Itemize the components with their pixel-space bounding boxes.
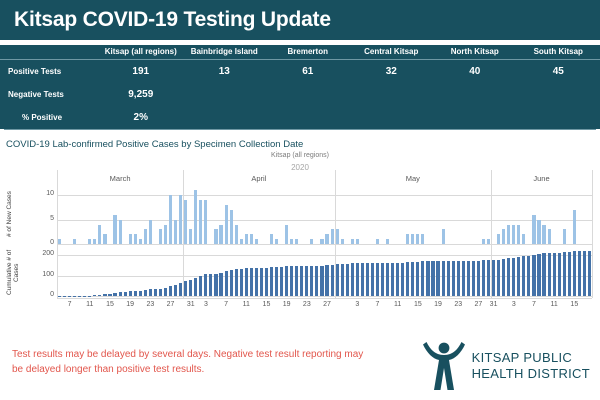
chart-bar-new-cases [290,239,293,244]
table-body: Positive Tests1911361324045Negative Test… [0,60,600,130]
chart-month-divider [57,170,58,298]
chart-bar-new-cases [341,239,344,244]
chart-bar-cumulative [108,294,111,296]
chart-bar-cumulative [497,260,500,296]
chart-bar-new-cases [230,210,233,244]
chart-x-tick-label: 11 [239,301,253,308]
chart-x-tick-label: 15 [103,301,117,308]
chart-y-tick-label: 10 [38,190,54,197]
table-cell: 2% [99,106,183,129]
chart-bar-new-cases [98,225,101,245]
table-header-row: Kitsap (all regions)Bainbridge IslandBre… [0,45,600,60]
table-cell [433,83,517,106]
cases-chart: Kitsap (all regions) 2020 MarchAprilMayJ… [0,152,600,327]
chart-bar-cumulative [406,262,409,296]
chart-bar-new-cases [194,190,197,244]
chart-x-tick-label: 27 [471,301,485,308]
chart-bar-new-cases [351,239,354,244]
chart-bar-cumulative [88,296,91,297]
chart-bar-new-cases [113,215,116,245]
chart-bar-cumulative [139,291,142,296]
chart-bar-new-cases [537,220,540,245]
chart-bar-new-cases [416,234,419,244]
chart-bar-new-cases [285,225,288,245]
chart-bar-new-cases [512,225,515,245]
chart-bar-cumulative [164,288,167,296]
chart-month-label: March [57,174,183,183]
chart-bar-cumulative [98,295,101,297]
chart-bar-cumulative [245,268,248,296]
table-col-header: Bainbridge Island [183,45,267,60]
chart-bar-new-cases [507,225,510,245]
chart-bar-cumulative [386,263,389,296]
chart-bar-new-cases [517,225,520,245]
chart-bar-new-cases [129,234,132,244]
chart-bar-cumulative [285,266,288,296]
chart-bar-cumulative [507,258,510,296]
chart-gridline [57,195,592,196]
chart-bar-cumulative [255,268,258,296]
chart-bar-new-cases [573,210,576,244]
chart-bar-new-cases [164,225,167,245]
chart-x-tick-label: 19 [280,301,294,308]
chart-x-tick-label: 7 [527,301,541,308]
chart-bar-new-cases [119,220,122,245]
chart-bar-new-cases [93,239,96,244]
chart-bar-cumulative [472,261,475,297]
chart-bar-cumulative [411,262,414,296]
chart-bar-cumulative [194,278,197,296]
chart-bar-cumulative [275,267,278,296]
chart-bar-new-cases [406,234,409,244]
chart-bar-cumulative [442,261,445,297]
person-figure-icon [422,340,466,392]
chart-x-tick-label: 27 [320,301,334,308]
chart-bar-new-cases [295,239,298,244]
chart-bar-cumulative [553,253,556,297]
chart-bar-new-cases [275,239,278,244]
chart-series-label: Kitsap (all regions) [0,152,600,159]
chart-bar-cumulative [548,253,551,297]
chart-bar-new-cases [189,229,192,244]
chart-bar-cumulative [341,264,344,296]
chart-bar-cumulative [235,269,238,296]
app-title-bar: Kitsap COVID-19 Testing Update [0,0,600,40]
chart-y-tick-label: 100 [34,271,54,278]
chart-bar-cumulative [260,268,263,296]
chart-x-tick-label: 15 [259,301,273,308]
chart-bar-cumulative [356,263,359,296]
chart-bar-cumulative [189,280,192,296]
chart-bar-cumulative [467,261,470,297]
chart-bar-cumulative [436,261,439,296]
chart-x-tick-label: 15 [567,301,581,308]
chart-x-tick-label: 3 [199,301,213,308]
chart-bar-cumulative [149,289,152,296]
chart-bar-cumulative [240,269,243,296]
page-title: Kitsap COVID-19 Testing Update [14,8,331,32]
chart-year-label: 2020 [0,163,600,172]
chart-bar-cumulative [487,260,490,296]
chart-bar-cumulative [522,256,525,296]
table-cell [517,83,600,106]
chart-bar-cumulative [225,271,228,296]
testing-summary-table: Kitsap (all regions)Bainbridge IslandBre… [0,45,600,129]
chart-y-tick-label: 200 [34,250,54,257]
table-col-header: Bremerton [266,45,350,60]
chart-bar-cumulative [452,261,455,297]
chart-bar-cumulative [159,289,162,297]
chart-bar-cumulative [542,253,545,296]
chart-bar-new-cases [225,205,228,244]
organization-logo: KITSAP PUBLIC HEALTH DISTRICT [422,340,590,392]
chart-bar-new-cases [204,200,207,244]
chart-bar-cumulative [336,264,339,296]
footer: Test results may be delayed by several d… [0,338,600,400]
chart-bar-cumulative [331,265,334,297]
chart-bar-new-cases [250,234,253,244]
chart-bar-cumulative [103,294,106,296]
chart-bar-cumulative [371,263,374,296]
table-row-label: Positive Tests [0,60,99,84]
table-cell [433,106,517,129]
table-cell: 191 [99,60,183,84]
table-cell [266,106,350,129]
chart-bar-cumulative [305,266,308,296]
chart-bar-cumulative [351,263,354,296]
chart-bar-new-cases [386,239,389,244]
table-row: % Positive2% [0,106,600,129]
chart-bar-cumulative [144,290,147,296]
logo-wordmark: KITSAP PUBLIC HEALTH DISTRICT [472,350,590,383]
chart-bar-cumulative [320,266,323,297]
chart-bar-cumulative [416,262,419,297]
chart-bar-cumulative [230,270,233,296]
chart-bar-cumulative [93,295,96,296]
table-cell [183,83,267,106]
table-row: Negative Tests9,259 [0,83,600,106]
chart-bar-new-cases [336,229,339,244]
chart-bar-new-cases [522,234,525,244]
chart-y-axis-title-top: # of New Cases [6,185,13,244]
chart-x-tick-label: 23 [143,301,157,308]
chart-bar-cumulative [381,263,384,296]
chart-bar-cumulative [124,292,127,296]
chart-x-tick-label: 23 [451,301,465,308]
chart-month-label: May [335,174,491,183]
chart-bar-new-cases [270,234,273,244]
chart-gridline [57,255,592,256]
chart-month-label: April [183,174,334,183]
chart-bar-cumulative [527,256,530,296]
chart-bar-new-cases [184,200,187,244]
table-cell [183,106,267,129]
chart-bar-new-cases [421,234,424,244]
chart-bar-new-cases [563,229,566,244]
chart-x-tick-label: 31 [487,301,501,308]
chart-right-edge [592,170,593,298]
table-cell: 9,259 [99,83,183,106]
chart-bar-new-cases [320,239,323,244]
table-col-header-blank [0,45,99,60]
chart-bar-new-cases [144,229,147,244]
chart-bar-cumulative [325,265,328,296]
chart-bar-cumulative [401,263,404,296]
chart-bar-new-cases [482,239,485,244]
chart-bar-new-cases [548,229,551,244]
chart-bar-cumulative [396,263,399,296]
chart-y-tick-label: 0 [34,291,54,298]
chart-bar-new-cases [174,220,177,245]
chart-bar-new-cases [356,239,359,244]
chart-bar-new-cases [149,220,152,245]
chart-bar-cumulative [482,260,485,296]
chart-x-tick-label: 7 [370,301,384,308]
chart-bar-cumulative [517,257,520,296]
chart-bar-new-cases [532,215,535,245]
chart-bar-new-cases [502,229,505,244]
table-cell [350,83,434,106]
chart-bar-cumulative [209,274,212,296]
table-cell: 32 [350,60,434,84]
chart-bar-new-cases [497,234,500,244]
chart-bar-cumulative [250,268,253,296]
chart-bar-cumulative [421,261,424,296]
chart-bar-new-cases [255,239,258,244]
table-cell [350,106,434,129]
logo-line-1: KITSAP PUBLIC [472,350,590,366]
disclaimer-text: Test results may be delayed by several d… [12,348,372,377]
chart-bar-cumulative [573,251,576,297]
chart-gridline [57,220,592,221]
chart-bar-cumulative [219,273,222,296]
table-col-header: Kitsap (all regions) [99,45,183,60]
chart-bar-cumulative [588,251,591,297]
table-cell [266,83,350,106]
table-cell [517,106,600,129]
chart-x-tick-label: 19 [123,301,137,308]
chart-bar-new-cases [411,234,414,244]
chart-bar-cumulative [295,266,298,296]
chart-bar-new-cases [376,239,379,244]
chart-bar-new-cases [487,239,490,244]
chart-bar-cumulative [134,291,137,296]
chart-x-tick-label: 11 [391,301,405,308]
chart-bar-cumulative [290,266,293,296]
table-col-header: South Kitsap [517,45,600,60]
chart-bar-cumulative [462,261,465,297]
chart-bar-cumulative [199,276,202,296]
chart-bar-new-cases [73,239,76,244]
chart-bar-cumulative [204,274,207,296]
chart-gridline [57,244,592,245]
chart-x-tick-label: 3 [350,301,364,308]
chart-bar-new-cases [245,234,248,244]
chart-bar-new-cases [169,195,172,244]
chart-bar-cumulative [184,281,187,296]
table-col-header: North Kitsap [433,45,517,60]
chart-bar-cumulative [502,259,505,296]
chart-bar-cumulative [558,253,561,297]
chart-y-axis-title-bottom: Cumulative # of Cases [6,245,20,300]
chart-bar-cumulative [346,264,349,296]
chart-bar-new-cases [240,239,243,244]
chart-bar-cumulative [492,260,495,296]
chart-bar-new-cases [442,229,445,244]
chart-bar-cumulative [376,263,379,296]
chart-y-tick-label: 0 [38,239,54,246]
table-cell: 61 [266,60,350,84]
chart-bar-cumulative [169,286,172,296]
chart-bar-cumulative [563,252,566,296]
table-cell: 45 [517,60,600,84]
chart-bar-new-cases [134,234,137,244]
chart-bar-cumulative [583,251,586,297]
chart-bar-new-cases [235,225,238,245]
chart-x-tick-label: 3 [507,301,521,308]
chart-bar-cumulative [532,255,535,296]
chart-x-tick-label: 27 [164,301,178,308]
chart-bar-cumulative [119,292,122,296]
chart-bar-cumulative [568,252,571,296]
chart-bar-cumulative [179,283,182,296]
chart-bar-cumulative [537,254,540,296]
chart-bar-cumulative [578,251,581,297]
chart-x-axis [57,298,592,299]
chart-bar-cumulative [174,285,177,296]
chart-bar-cumulative [366,263,369,296]
chart-x-tick-label: 11 [547,301,561,308]
chart-bar-new-cases [139,239,142,244]
chart-x-tick-label: 23 [300,301,314,308]
chart-bar-new-cases [88,239,91,244]
chart-bar-cumulative [457,261,460,297]
chart-x-tick-label: 7 [219,301,233,308]
chart-bar-cumulative [447,261,450,297]
chart-bar-new-cases [310,239,313,244]
logo-line-2: HEALTH DISTRICT [472,366,590,382]
table-row-label: Negative Tests [0,83,99,106]
chart-bar-new-cases [219,225,222,245]
chart-bar-cumulative [361,263,364,296]
chart-x-tick-label: 15 [411,301,425,308]
chart-gridline [57,296,592,297]
table-cell: 13 [183,60,267,84]
chart-bar-new-cases [199,200,202,244]
chart-bar-cumulative [214,274,217,296]
chart-bar-cumulative [512,258,515,297]
chart-bar-cumulative [426,261,429,296]
chart-month-label: June [491,174,592,183]
chart-y-tick-label: 5 [38,215,54,222]
chart-bar-cumulative [270,267,273,296]
chart-x-tick-label: 31 [184,301,198,308]
chart-bar-cumulative [300,266,303,296]
chart-bar-cumulative [477,261,480,297]
chart-bar-cumulative [154,289,157,296]
chart-bar-new-cases [331,229,334,244]
table-row: Positive Tests1911361324045 [0,60,600,84]
chart-bar-cumulative [113,293,116,296]
chart-bar-new-cases [159,229,162,244]
chart-bar-cumulative [280,267,283,296]
table-row-label: % Positive [0,106,99,129]
chart-bar-cumulative [315,266,318,296]
chart-bar-cumulative [265,268,268,296]
chart-bar-new-cases [58,239,61,244]
chart-bar-cumulative [391,263,394,296]
chart-x-tick-label: 7 [63,301,77,308]
chart-bar-new-cases [179,195,182,244]
chart-bar-new-cases [542,225,545,245]
chart-section-title: COVID-19 Lab-confirmed Positive Cases by… [0,130,600,150]
chart-bar-new-cases [103,234,106,244]
chart-bar-cumulative [310,266,313,296]
chart-bar-cumulative [431,261,434,296]
chart-bar-new-cases [325,234,328,244]
chart-bar-cumulative [129,291,132,296]
table-col-header: Central Kitsap [350,45,434,60]
table-cell: 40 [433,60,517,84]
chart-x-tick-label: 19 [431,301,445,308]
chart-x-tick-label: 11 [83,301,97,308]
chart-bar-new-cases [214,229,217,244]
